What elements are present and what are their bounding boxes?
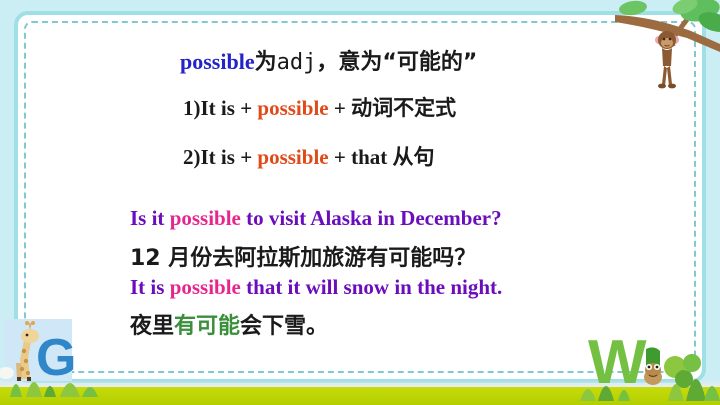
example-1-en-before: Is it [130, 206, 164, 230]
example-2-en-before: It is [130, 275, 164, 299]
rule-item-2: 2)It is + possible + that 从句 [183, 141, 435, 171]
rule-title-meaning: 可能的 [397, 50, 463, 75]
rule-2-tail-en: that [351, 145, 387, 169]
example-1-zh-before: 12 月份去阿拉斯加旅游有可能吗？ [130, 246, 476, 271]
example-2-zh-before: 夜里 [130, 314, 174, 339]
rule-item-1: 1)It is + possible + 动词不定式 [183, 92, 456, 122]
example-2-chinese: 夜里有可能会下雪。 [130, 308, 328, 340]
slide-canvas: G W [0, 0, 720, 405]
example-2-en-keyword: possible [170, 275, 241, 299]
rule-1-keyword: possible [257, 96, 328, 120]
example-1-en-after: to visit Alaska in December? [246, 206, 501, 230]
rule-2-plus-2: + [334, 145, 346, 169]
example-1-english: Is it possible to visit Alaska in Decemb… [130, 206, 502, 231]
rule-keyword: possible [180, 49, 255, 74]
example-1-chinese: 12 月份去阿拉斯加旅游有可能吗？ [130, 240, 476, 272]
example-2-zh-keyword: 有可能 [174, 314, 240, 339]
slide-content: possible为adj，意为“可能的” 1)It is + possible … [0, 0, 720, 405]
example-1-en-keyword: possible [170, 206, 241, 230]
rule-title-line: possible为adj，意为“可能的” [180, 44, 477, 76]
rule-1-tail: 动词不定式 [351, 96, 456, 120]
rule-title-part1: 为 [255, 50, 277, 75]
rule-2-number: 2) [183, 145, 201, 169]
rule-1-lead: It is [201, 96, 235, 120]
rule-2-plus-1: + [240, 145, 252, 169]
rule-2-tail-zh: 从句 [393, 145, 435, 169]
rule-2-lead: It is [201, 145, 235, 169]
rule-1-plus-2: + [334, 96, 346, 120]
rule-1-plus-1: + [240, 96, 252, 120]
rule-2-keyword: possible [257, 145, 328, 169]
example-2-zh-after: 会下雪。 [240, 314, 328, 339]
rule-title-quote-close: ” [463, 50, 477, 75]
grass-band-decoration [0, 387, 720, 405]
rule-title-part2: ，意为 [316, 50, 382, 75]
grass-shadow [0, 380, 720, 387]
rule-title-quote-open: “ [382, 50, 396, 75]
example-2-en-after: that it will snow in the night. [246, 275, 502, 299]
rule-1-number: 1) [183, 96, 201, 120]
example-2-english: It is possible that it will snow in the … [130, 275, 502, 300]
rule-title-pos: adj [277, 50, 317, 75]
